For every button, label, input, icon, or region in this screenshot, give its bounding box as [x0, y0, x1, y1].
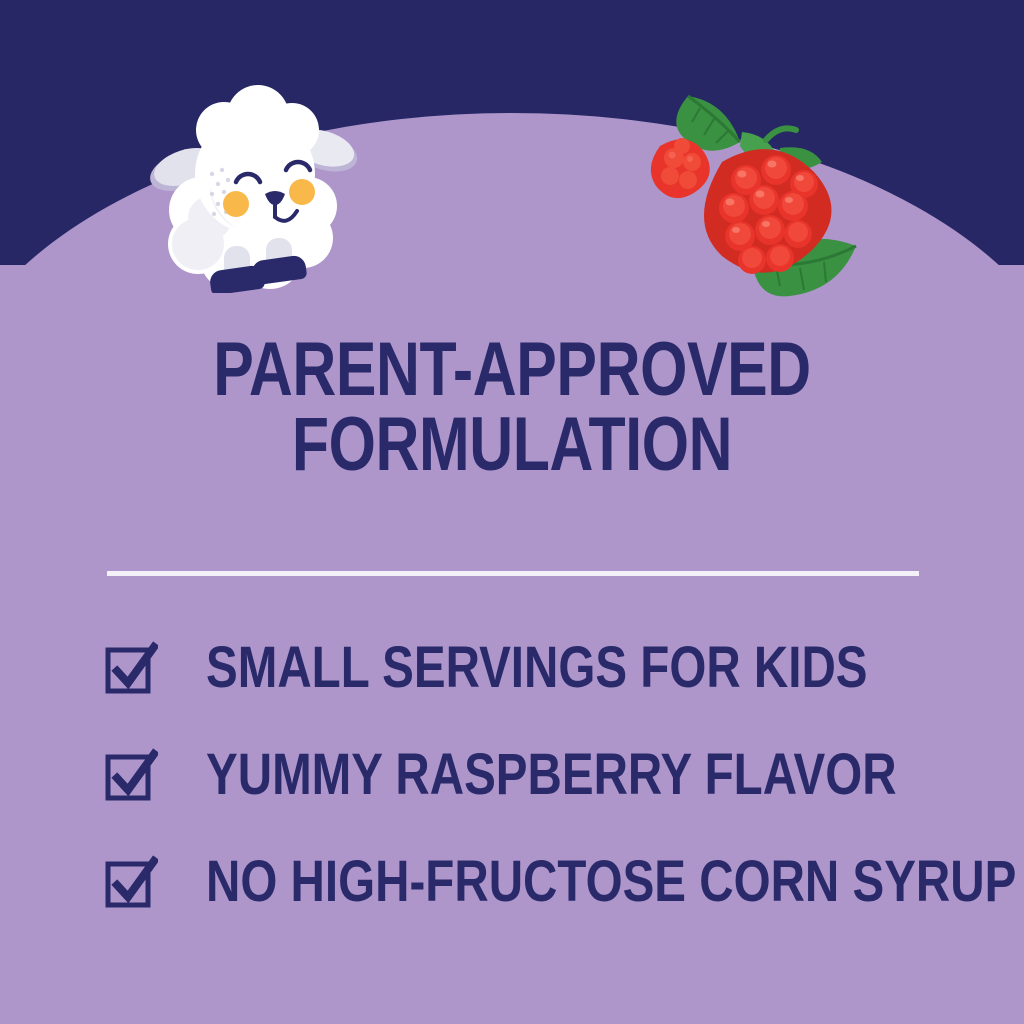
feature-checklist: SMALL SERVINGS FOR KIDS YUMMY RASPBERRY …: [104, 632, 984, 918]
list-item: NO HIGH-FRUCTOSE CORN SYRUP: [104, 846, 984, 918]
lamb-head: [195, 85, 319, 234]
page-title-line-2: FORMULATION: [102, 407, 921, 482]
raspberry-illustration: [630, 88, 885, 306]
page-title: PARENT-APPROVED FORMULATION: [102, 332, 921, 482]
list-item: SMALL SERVINGS FOR KIDS: [104, 632, 984, 704]
checkbox-checked-icon: [104, 641, 158, 695]
lamb-blush-left: [223, 191, 249, 217]
page-title-line-1: PARENT-APPROVED: [213, 327, 811, 412]
lamb-mascot-illustration: [140, 78, 370, 293]
divider: [107, 571, 919, 576]
list-item: YUMMY RASPBERRY FLAVOR: [104, 739, 984, 811]
checkbox-checked-icon: [104, 748, 158, 802]
checkbox-checked-icon: [104, 855, 158, 909]
list-item-label: YUMMY RASPBERRY FLAVOR: [206, 746, 897, 804]
lamb-blush-right: [289, 179, 315, 205]
list-item-label: NO HIGH-FRUCTOSE CORN SYRUP: [206, 853, 1016, 911]
list-item-label: SMALL SERVINGS FOR KIDS: [206, 639, 868, 697]
promo-poster: PARENT-APPROVED FORMULATION SMALL SERVIN…: [0, 0, 1024, 1024]
